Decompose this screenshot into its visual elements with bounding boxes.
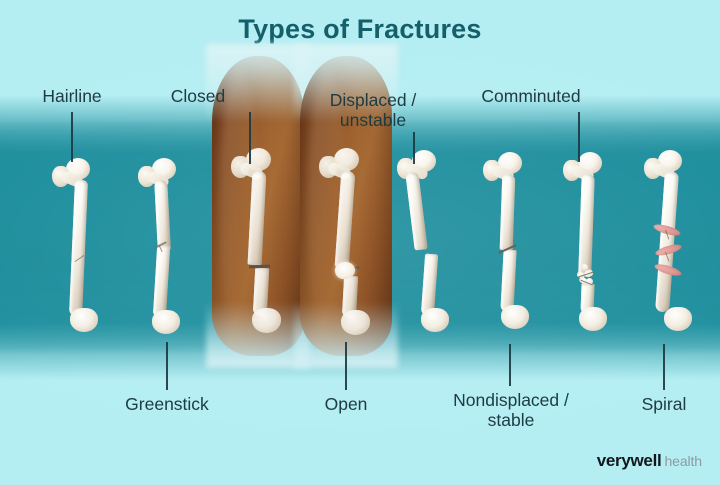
femur-shaft-upper-displaced (405, 171, 427, 250)
femur-condyles (579, 307, 607, 331)
leader-line-open (345, 342, 347, 390)
femur-condyles (664, 307, 692, 331)
bone-spiral (644, 150, 704, 340)
bone-open (316, 148, 378, 340)
leader-line-comminuted (578, 112, 580, 162)
femur-condyles (252, 308, 281, 333)
bone-closed (228, 148, 290, 340)
femur-condyles (421, 308, 449, 332)
label-greenstick: Greenstick (106, 394, 228, 414)
bone-nondisplaced (482, 152, 542, 340)
label-comminuted: Comminuted (438, 86, 624, 106)
femur-shaft (69, 180, 88, 316)
bone-greenstick (136, 158, 194, 340)
femur-shaft-upper (248, 171, 267, 266)
label-closed: Closed (138, 86, 258, 106)
label-displaced: Displaced / unstable (290, 90, 456, 130)
femur-condyles (501, 305, 529, 329)
leader-line-hairline (71, 112, 73, 162)
femur-shaft-lower (500, 250, 516, 313)
femur-condyles (341, 310, 370, 335)
label-nondisplaced: Nondisplaced / stable (428, 390, 594, 430)
leader-line-nondisplaced (509, 344, 511, 386)
label-spiral: Spiral (610, 394, 718, 414)
page-title: Types of Fractures (0, 14, 720, 45)
bone-hairline (52, 158, 110, 340)
leader-line-spiral (663, 344, 665, 390)
femur-shaft-upper (154, 180, 171, 251)
femur-shaft-upper (335, 171, 356, 268)
logo-wordmark: verywell (597, 451, 662, 471)
femur-shaft-upper (500, 174, 516, 250)
leader-line-closed (249, 112, 251, 164)
femur-condyles (70, 308, 98, 332)
leader-line-greenstick (166, 342, 168, 390)
femur-shaft-lower-displaced (421, 254, 438, 317)
leader-line-displaced (413, 132, 415, 164)
verywell-health-logo: verywell health (597, 451, 702, 471)
label-open: Open (290, 394, 402, 414)
bone-comminuted (562, 152, 622, 340)
label-hairline: Hairline (12, 86, 132, 106)
femur-shaft (655, 172, 679, 313)
femur-shaft-lower (153, 246, 170, 319)
bone-displaced (396, 150, 458, 340)
infographic-canvas: Types of Fractures (0, 0, 720, 485)
femur-condyles (152, 310, 180, 334)
logo-subtext: health (664, 453, 702, 469)
femur-shaft-upper (578, 174, 594, 274)
